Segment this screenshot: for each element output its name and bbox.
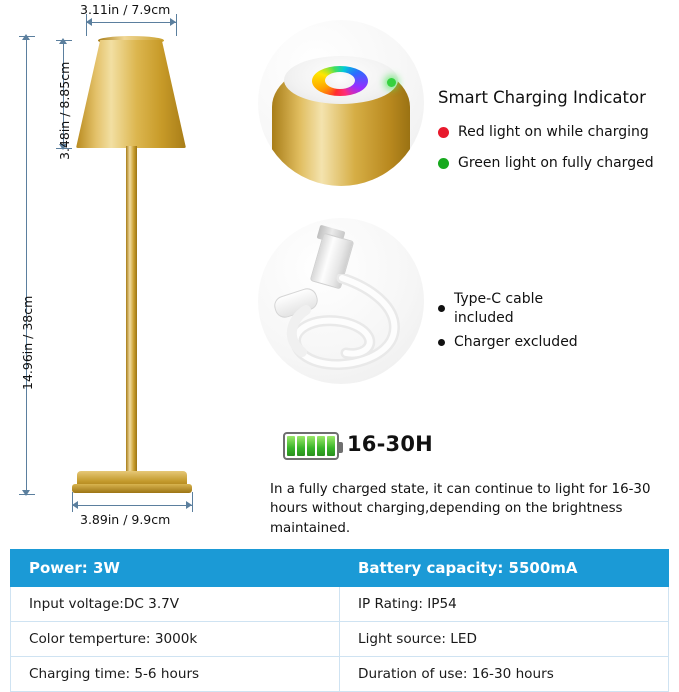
- battery-cell: [327, 436, 335, 456]
- spec-cell-color-temperature: Color temperture: 3000k: [11, 622, 340, 657]
- charging-bullet-red: Red light on while charging: [438, 124, 649, 140]
- cable-bullet-typec-line2: included: [454, 309, 543, 328]
- battery-cell: [297, 436, 305, 456]
- battery-cell: [307, 436, 315, 456]
- spec-cell-power: Power: 3W: [11, 550, 340, 587]
- spec-cell-input-voltage: Input voltage:DC 3.7V: [11, 587, 340, 622]
- dim-arrow-left-shade: [86, 18, 92, 26]
- cable-coil-graphic: [276, 274, 414, 374]
- battery-cell: [287, 436, 295, 456]
- product-infographic: 3.11in / 7.9cm 3.48in / 8.85cm 14.96in /…: [0, 0, 679, 685]
- dim-arrow-down-total: [22, 490, 30, 496]
- spec-cell-charging-time: Charging time: 5-6 hours: [11, 657, 340, 692]
- table-row: Color temperture: 3000k Light source: LE…: [11, 622, 669, 657]
- cable-bullet-charger-label: Charger excluded: [454, 334, 578, 350]
- spec-table: Power: 3W Battery capacity: 5500mA Input…: [10, 549, 669, 692]
- green-dot-icon: [438, 158, 449, 169]
- charging-indicator-photo: [258, 20, 424, 186]
- dim-label-shade-height: 3.48in / 8.85cm: [57, 62, 72, 160]
- charging-bullet-red-label: Red light on while charging: [458, 124, 649, 140]
- charging-bullet-green: Green light on fully charged: [438, 155, 654, 171]
- dim-tick-total-top: [19, 36, 35, 37]
- dim-label-total-height: 14.96in / 38cm: [20, 296, 35, 390]
- cable-bullet-charger: Charger excluded: [438, 334, 578, 350]
- table-row-header: Power: 3W Battery capacity: 5500mA: [11, 550, 669, 587]
- charging-indicator-title: Smart Charging Indicator: [438, 88, 646, 107]
- dim-line-base-width: [72, 505, 192, 506]
- rgb-ring-center: [325, 72, 355, 89]
- bullet-dot-icon-2: [438, 339, 445, 346]
- table-row: Charging time: 5-6 hours Duration of use…: [11, 657, 669, 692]
- cable-bullet-typec-line1: Type-C cable: [454, 290, 543, 309]
- dim-tick-shade-right: [176, 14, 177, 36]
- spec-cell-duration-of-use: Duration of use: 16-30 hours: [340, 657, 669, 692]
- bullet-dot-icon: [438, 305, 445, 312]
- table-row: Input voltage:DC 3.7V IP Rating: IP54: [11, 587, 669, 622]
- dim-arrow-right-shade: [170, 18, 176, 26]
- battery-cell: [317, 436, 325, 456]
- dim-tick-total-bottom: [19, 494, 35, 495]
- cable-photo: [258, 218, 424, 384]
- dim-line-total-height: [26, 36, 27, 494]
- red-dot-icon: [438, 127, 449, 138]
- dim-tick-base-right: [192, 492, 193, 512]
- lamp-shade: [76, 40, 186, 148]
- dim-tick-shade-top: [56, 40, 72, 41]
- green-indicator-led: [387, 78, 396, 87]
- dim-arrow-left-base: [72, 501, 78, 509]
- spec-cell-ip-rating: IP Rating: IP54: [340, 587, 669, 622]
- runtime-badge: 16-30H: [347, 432, 433, 456]
- runtime-description: In a fully charged state, it can continu…: [270, 480, 670, 538]
- dim-label-base-width: 3.89in / 9.9cm: [80, 512, 170, 527]
- dim-arrow-up-shade-h: [59, 38, 67, 44]
- lamp-diagram: [0, 0, 250, 545]
- lamp-stem: [126, 146, 137, 471]
- dim-arrow-up-total: [22, 34, 30, 40]
- spec-cell-battery-capacity: Battery capacity: 5500mA: [340, 550, 669, 587]
- lamp-base-foot: [72, 484, 192, 493]
- dim-label-shade-width: 3.11in / 7.9cm: [80, 2, 170, 17]
- charging-bullet-green-label: Green light on fully charged: [458, 155, 654, 171]
- dim-line-shade-width: [86, 22, 176, 23]
- dim-arrow-right-base: [186, 501, 192, 509]
- cable-bullet-typec: Type-C cable included: [438, 290, 543, 328]
- spec-cell-light-source: Light source: LED: [340, 622, 669, 657]
- battery-icon: [283, 432, 339, 460]
